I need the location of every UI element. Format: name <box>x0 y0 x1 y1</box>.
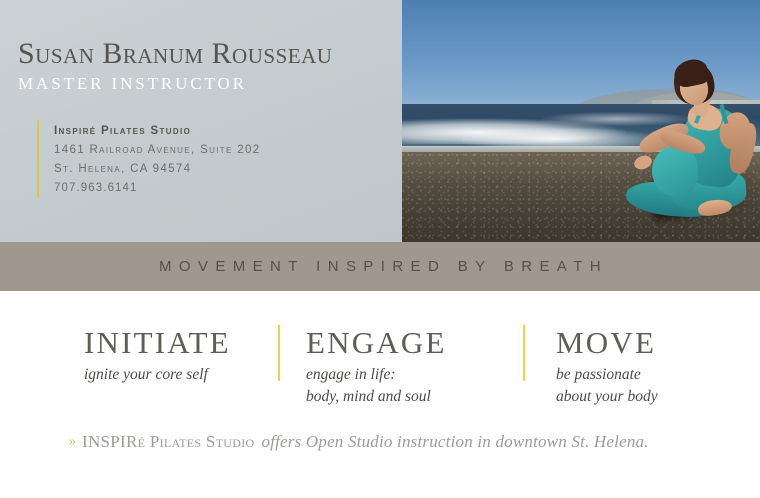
pillar-initiate: INITIATE ignite your core self <box>0 291 265 386</box>
page-title: Susan Branum Rousseau <box>18 38 402 70</box>
business-card: Susan Branum Rousseau MASTER INSTRUCTOR … <box>0 0 760 498</box>
pillar-move: MOVE be passionate about your body <box>510 291 760 408</box>
tagline-text: MOVEMENT INSPIRED BY BREATH <box>152 258 608 275</box>
pillar-subtext: be passionate about your body <box>556 364 760 408</box>
instructor-role: MASTER INSTRUCTOR <box>18 74 402 94</box>
pillar-heading: MOVE <box>556 326 760 359</box>
pillar-subtext-line: engage in life: <box>306 364 510 386</box>
pillar-divider <box>523 325 525 381</box>
footer-line: » INSPIRé Pilates Studio offers Open Stu… <box>69 432 649 452</box>
pillar-subtext-line: body, mind and soul <box>306 386 510 408</box>
contact-studio-name: Inspiré Pilates Studio <box>54 122 261 141</box>
pillar-engage: ENGAGE engage in life: body, mind and so… <box>265 291 510 408</box>
pillar-subtext-line: ignite your core self <box>84 364 265 386</box>
contact-city-state-zip: St. Helena, CA 94574 <box>54 160 261 179</box>
accent-rule <box>37 120 39 198</box>
pillars-section: INITIATE ignite your core self ENGAGE en… <box>0 291 760 421</box>
identity-block: Susan Branum Rousseau MASTER INSTRUCTOR <box>18 38 402 94</box>
pillar-heading: ENGAGE <box>306 326 510 359</box>
pillar-subtext: engage in life: body, mind and soul <box>306 364 510 408</box>
contact-address: 1461 Railroad Avenue, Suite 202 <box>54 141 261 160</box>
footer-brand: INSPIRé Pilates Studio <box>82 432 255 452</box>
contact-block: Inspiré Pilates Studio 1461 Railroad Ave… <box>37 120 261 198</box>
tagline-band: MOVEMENT INSPIRED BY BREATH <box>0 242 760 291</box>
contact-lines: Inspiré Pilates Studio 1461 Railroad Ave… <box>54 120 261 198</box>
pillar-subtext-line: be passionate <box>556 364 760 386</box>
pillar-heading: INITIATE <box>84 326 265 359</box>
contact-phone: 707.963.6141 <box>54 179 261 198</box>
double-chevron-icon: » <box>69 435 75 449</box>
footer-section: » INSPIRé Pilates Studio offers Open Stu… <box>0 432 760 472</box>
pillar-subtext: ignite your core self <box>84 364 265 386</box>
pillar-subtext-line: about your body <box>556 386 760 408</box>
hero-photo <box>402 0 760 242</box>
pillar-divider <box>278 325 280 381</box>
footer-description: offers Open Studio instruction in downto… <box>262 432 649 452</box>
hero-section: Susan Branum Rousseau MASTER INSTRUCTOR … <box>0 0 760 242</box>
